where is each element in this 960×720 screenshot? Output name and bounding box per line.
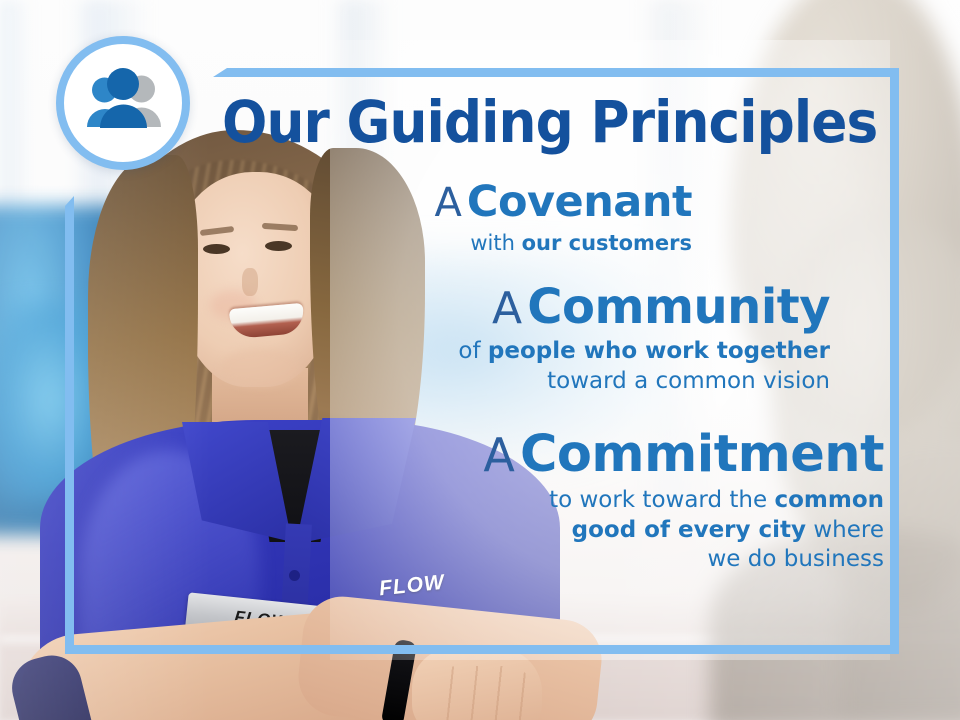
subtext-line: to work toward the common [300,486,884,515]
subtext-run: where [806,517,884,543]
subtext-run: we do business [708,546,885,572]
principle-heading: A Covenant [300,180,692,226]
employee-eye-right [265,241,292,251]
subtext-line: of people who work together [300,337,830,366]
subtext-line: good of every city where [300,516,884,545]
guiding-principles-graphic: FLOW FLOW AUTOMOTIVE [0,0,960,720]
principle-article: A [492,283,522,334]
subtext-emphasis: good of every city [572,517,806,543]
principle-word: Covenant [467,177,692,227]
principle-word: Commitment [520,425,884,484]
subtext-run: of [458,338,487,364]
subtext-emphasis: our customers [522,231,692,255]
principle-subtext: of people who work togethertoward a comm… [300,337,830,396]
principle-article: A [434,180,461,226]
principles-list: A Covenant with our customers A Communit… [300,180,900,575]
principle-subtext: with our customers [300,230,692,257]
principle-article: A [483,428,514,482]
principle-subtext: to work toward the commongood of every c… [300,486,884,574]
people-group-badge [56,36,190,170]
subtext-line: with our customers [300,230,692,257]
principle-block-covenant: A Covenant with our customers [300,180,900,256]
subtext-line: toward a common vision [300,367,830,396]
principle-heading: A Commitment [300,428,884,482]
subtext-line: we do business [300,545,884,574]
people-group-icon [75,65,171,141]
principle-block-commitment: A Commitment to work toward the commongo… [300,428,900,574]
subtext-run: with [470,231,521,255]
employee-fingers [428,666,536,720]
principle-block-community: A Community of people who work togethert… [300,282,900,396]
page-title: Our Guiding Principles [222,93,829,151]
employee-nose [242,268,258,296]
employee-shirt-button-top [289,570,300,581]
subtext-run: toward a common vision [547,368,830,394]
principle-heading: A Community [300,282,830,333]
employee-eye-left [203,244,230,254]
employee-chin [220,348,300,388]
principle-word: Community [527,279,830,335]
subtext-run: to work toward the [549,487,774,513]
subtext-emphasis: people who work together [488,338,830,364]
subtext-emphasis: common [774,487,884,513]
